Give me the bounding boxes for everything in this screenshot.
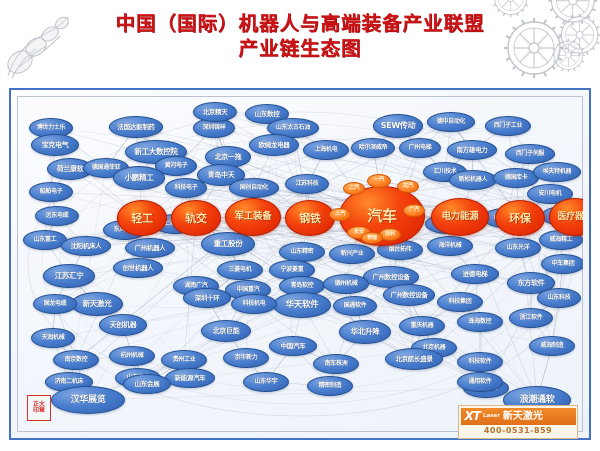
member-node[interactable]: 天创机器 — [99, 314, 147, 336]
auto-sub-node[interactable]: 广汽 — [403, 204, 425, 217]
node-label: 德国通菲亚 — [91, 165, 122, 171]
node-label: 山东会展 — [134, 381, 161, 388]
node-label: 中国汽车 — [280, 343, 307, 350]
member-node[interactable]: 上海机电 — [303, 140, 349, 160]
node-label: 中车集团 — [551, 261, 576, 267]
auto-sub-node[interactable]: 二汽 — [343, 182, 365, 195]
node-label: 黄河电子 — [164, 163, 189, 169]
node-label: 上海机电 — [314, 147, 339, 153]
node-label: 广汽 — [408, 208, 420, 214]
core-industry-node[interactable]: 电力能源 — [431, 198, 489, 236]
node-label: 上汽 — [334, 212, 346, 218]
member-node[interactable]: 南车株洲 — [313, 354, 359, 374]
node-label: 南车株洲 — [324, 361, 349, 367]
node-label: 海洋机械 — [438, 243, 463, 249]
node-label: 中国重汽 — [236, 287, 261, 293]
member-node[interactable]: 威海制造 — [529, 336, 575, 356]
node-label: 钢铁 — [298, 213, 321, 224]
node-label: 南京数控 — [64, 357, 89, 363]
node-label: 博世力士乐 — [36, 125, 67, 131]
core-industry-node[interactable]: 轨交 — [171, 200, 221, 236]
node-label: 汉华展览 — [70, 396, 107, 405]
member-node[interactable]: 南京数控 — [53, 350, 99, 370]
member-node[interactable]: 宝克电气 — [31, 134, 79, 156]
auto-sub-node[interactable]: 北汽 — [397, 180, 419, 193]
member-node[interactable]: 德中自动化 — [427, 112, 475, 132]
node-label: 进德电梯 — [462, 271, 489, 278]
node-label: 军工装备 — [234, 212, 273, 222]
member-node[interactable]: 海洋机械 — [427, 236, 473, 256]
node-label: 浪潮通软 — [519, 396, 556, 405]
core-industry-node[interactable]: 钢铁 — [285, 200, 335, 236]
member-node[interactable]: 新兴产业 — [329, 244, 375, 264]
member-node[interactable]: 华天软件 — [273, 292, 331, 318]
member-node[interactable]: 国龙电缆 — [33, 294, 77, 314]
member-node[interactable]: 科技机电 — [231, 294, 277, 314]
node-label: 山东精密 — [290, 249, 315, 255]
node-label: 青岛中天 — [207, 172, 236, 179]
page-title: 中国（国际）机器人与高端装备产业联盟 产业链生态图 — [0, 12, 600, 62]
member-node[interactable]: 广州机器人 — [125, 238, 175, 258]
member-node[interactable]: 重庆机器 — [399, 316, 445, 336]
member-node[interactable]: 浙江软件 — [509, 308, 553, 328]
auto-sub-node[interactable]: 上汽 — [329, 208, 351, 221]
member-node[interactable]: 埃夫特机器 — [533, 162, 581, 182]
watermark-name: 新天激光 — [503, 411, 543, 422]
member-node[interactable]: 广州电梯 — [399, 138, 441, 158]
member-node[interactable]: 西门子工业 — [485, 116, 531, 136]
member-node[interactable]: 进德电梯 — [451, 264, 499, 284]
node-label: 山东科技 — [547, 295, 572, 301]
node-label: 南方雄电力 — [455, 147, 488, 154]
node-label: 三菱电机 — [228, 267, 253, 273]
member-node[interactable]: 京华新力 — [223, 348, 269, 368]
auto-sub-node[interactable]: 奇瑞 — [361, 232, 383, 244]
member-node[interactable]: 新天激光 — [71, 292, 123, 316]
node-label: 威海制造 — [540, 343, 565, 349]
node-label: 科技软件 — [468, 359, 493, 365]
node-label: 山东重工 — [33, 237, 58, 243]
member-node[interactable]: 小鹏精工 — [113, 166, 165, 190]
core-industry-node[interactable]: 军工装备 — [225, 198, 281, 236]
member-node[interactable]: 船舶电子 — [29, 182, 73, 202]
node-label: 国创自动化 — [239, 185, 270, 191]
member-node[interactable]: 华北升降 — [339, 320, 391, 344]
member-node[interactable]: 哈尔滨威帝 — [351, 138, 395, 158]
node-label: SEW传动 — [380, 122, 417, 130]
node-label: 济南二机床 — [54, 379, 85, 385]
node-label: 德中自动化 — [436, 119, 467, 125]
node-label: 天润机械 — [41, 335, 66, 341]
node-label: 创世机器人 — [121, 265, 154, 272]
node-label: 新兴产业 — [340, 251, 365, 257]
member-node[interactable]: 山东科技 — [537, 288, 581, 308]
node-label: 吉利 — [384, 232, 396, 238]
node-label: 北京巨能 — [212, 328, 241, 335]
member-node[interactable]: 科技集团 — [437, 292, 483, 312]
node-label: 电力能源 — [441, 212, 480, 222]
member-node[interactable]: 中车集团 — [541, 254, 583, 274]
node-label: 贵州工业 — [172, 357, 197, 363]
node-label: 医疗器械 — [557, 213, 583, 222]
node-label: 广州机器人 — [133, 245, 166, 252]
node-label: 浙江软件 — [519, 315, 544, 321]
node-label: 精密制造 — [318, 383, 343, 389]
node-label: 北京一拖 — [214, 154, 243, 161]
node-label: 重工股份 — [213, 240, 244, 248]
node-label: 山东数控 — [254, 111, 281, 118]
node-label: 烟台拓伟 — [388, 247, 413, 253]
core-industry-node[interactable]: 轻工 — [117, 200, 167, 236]
node-label: 一汽 — [373, 178, 385, 184]
node-label: 西门子伺服 — [515, 151, 546, 157]
node-label: 珠海数控 — [468, 319, 493, 325]
member-node[interactable]: 天润机械 — [31, 328, 75, 348]
member-node[interactable]: 三菱电机 — [217, 260, 263, 280]
member-node[interactable]: 汉华展览 — [51, 386, 125, 414]
member-node[interactable]: 北京巨能 — [201, 320, 251, 342]
node-label: 环保 — [508, 213, 531, 224]
node-label: 宝克电气 — [41, 142, 70, 149]
member-node[interactable]: 深圳十环 — [183, 288, 231, 308]
member-node[interactable]: 山东精密 — [279, 242, 325, 262]
node-label: 科技集团 — [448, 299, 473, 305]
node-label: 山东太古石油 — [275, 125, 311, 131]
watermark-sub: Laser — [483, 413, 500, 419]
member-node[interactable]: 中国汽车 — [269, 336, 317, 356]
watermark-phone: 400-0531-859 — [461, 425, 576, 437]
member-node[interactable]: SEW传动 — [373, 114, 423, 138]
member-node[interactable]: 北京航长盛景 — [385, 348, 443, 370]
node-label: 轨交 — [184, 213, 207, 224]
member-node[interactable]: 沈阳机床人 — [61, 236, 111, 256]
node-label: 德国库卡 — [504, 175, 529, 181]
node-label: 国龙电缆 — [43, 301, 68, 307]
node-label: 青岛软控 — [290, 283, 315, 289]
node-label: 北汽 — [402, 184, 414, 190]
member-node[interactable]: 创世机器人 — [113, 258, 163, 278]
node-label: 埃夫特机器 — [542, 169, 573, 175]
node-label: 广州数控设备 — [371, 274, 410, 281]
watermark-badge: XT Laser 新天激光 400-0531-859 — [458, 405, 578, 439]
node-label: 欧姆龙电器 — [257, 142, 290, 149]
node-label: 新松机器人 — [458, 177, 489, 183]
node-label: 小鹏精工 — [124, 174, 155, 182]
title-line-1: 中国（国际）机器人与高端装备产业联盟 — [0, 12, 600, 37]
node-label: 安川电机 — [538, 191, 563, 197]
node-label: 威海精工 — [549, 237, 574, 243]
node-label: 汽车 — [366, 209, 397, 224]
member-node[interactable]: 通用软件 — [457, 372, 503, 392]
node-label: 广州电梯 — [408, 145, 433, 151]
node-label: 天创机器 — [109, 322, 138, 329]
node-label: 船舶电子 — [39, 189, 64, 195]
node-label: 通用软件 — [468, 379, 493, 385]
title-line-2: 产业链生态图 — [0, 37, 600, 62]
node-label: 西门子工业 — [493, 123, 524, 129]
node-label: 远东电缆 — [45, 213, 70, 219]
node-label: 江苏科技 — [295, 181, 320, 187]
member-node[interactable]: 法国达能制药 — [109, 116, 163, 138]
red-seal-stamp: 正大印章 — [27, 395, 51, 421]
node-label: 轻工 — [130, 213, 153, 224]
seal-label: 正大印章 — [33, 402, 45, 415]
watermark-brand: XT Laser 新天激光 — [461, 408, 576, 425]
node-label: 沈阳机床人 — [69, 243, 102, 250]
watermark-xt: XT — [465, 410, 480, 423]
node-label: 杭州机械 — [120, 353, 145, 359]
member-node[interactable]: 山东会展 — [123, 374, 171, 394]
node-label: 北京航长盛景 — [394, 356, 433, 363]
member-node[interactable]: 江苏汇宁 — [43, 264, 95, 288]
node-label: 华北升降 — [350, 328, 381, 336]
member-node[interactable]: 珠海数控 — [457, 312, 503, 332]
node-label: 东方软件 — [517, 280, 546, 287]
node-label: 法国达能制药 — [116, 124, 155, 131]
member-node[interactable]: 新松机器人 — [449, 170, 497, 190]
member-node[interactable]: 山东华宇 — [243, 372, 289, 392]
member-node[interactable]: 广州数控设备 — [383, 284, 435, 306]
node-label: 德州机械 — [334, 281, 359, 287]
member-node[interactable]: 远东电缆 — [35, 206, 79, 226]
node-label: 二汽 — [348, 186, 360, 192]
member-node[interactable]: 精密制造 — [307, 376, 353, 396]
node-label: 宁波菱重 — [280, 267, 305, 273]
member-node[interactable]: 山东光洋 — [495, 238, 541, 258]
member-node[interactable]: 新能源汽车 — [165, 368, 215, 388]
member-node[interactable]: 欧姆龙电器 — [249, 134, 299, 156]
node-label: 深圳十环 — [194, 295, 221, 302]
node-label: 荷兰康软 — [56, 166, 85, 173]
member-node[interactable]: 贵州工业 — [161, 350, 207, 370]
node-label: 新能源汽车 — [173, 375, 206, 382]
node-label: 京华新力 — [234, 355, 259, 361]
node-label: 科技电子 — [174, 185, 199, 191]
member-node[interactable]: 杭州机械 — [109, 346, 155, 366]
industry-network-diagram: 博世力士乐法国达能制药深圳锦祥北京精天山东数控山东太古石油SEW传动德中自动化西… — [17, 96, 583, 432]
node-label: 奇瑞 — [366, 236, 377, 241]
core-industry-node[interactable]: 环保 — [495, 200, 545, 236]
member-node[interactable]: 德州机械 — [323, 274, 369, 294]
node-label: 新天激光 — [82, 300, 113, 308]
auto-sub-node[interactable]: 一汽 — [367, 174, 391, 188]
node-label: 国通软件 — [343, 303, 368, 309]
member-node[interactable]: 科技软件 — [457, 352, 503, 372]
node-label: 华天软件 — [285, 301, 320, 310]
node-label: 北京精天 — [202, 109, 229, 116]
node-label: 广州数控设备 — [389, 292, 428, 299]
member-node[interactable]: 江苏科技 — [285, 174, 329, 194]
node-label: 哈尔滨威帝 — [358, 145, 389, 151]
node-label: 科技机电 — [242, 301, 267, 307]
node-label: 山东华宇 — [254, 379, 279, 385]
member-node[interactable]: 南方雄电力 — [447, 140, 497, 160]
member-node[interactable]: 国通软件 — [333, 296, 377, 316]
slide-canvas: 中国（国际）机器人与高端装备产业联盟 产业链生态图 博世力士乐法国达能制药深圳锦… — [0, 0, 600, 451]
member-node[interactable]: 北京精天 — [193, 102, 237, 122]
member-node[interactable]: 西门子伺服 — [505, 144, 555, 164]
node-label: 新工大数控院 — [133, 148, 178, 156]
node-label: 山东光洋 — [506, 245, 531, 251]
node-label: 重庆机器 — [410, 323, 435, 329]
node-label: 深圳锦祥 — [202, 125, 227, 131]
member-node[interactable]: 国创自动化 — [229, 178, 279, 198]
node-label: 江苏汇宁 — [54, 272, 85, 280]
